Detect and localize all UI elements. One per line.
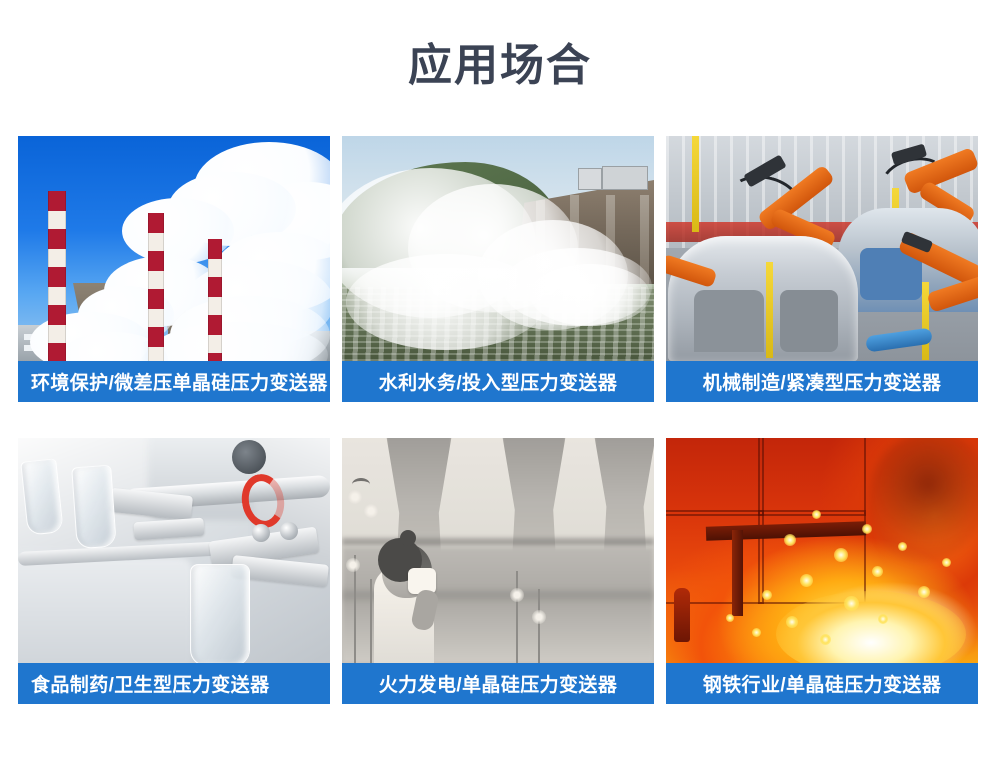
spark-shape — [862, 524, 872, 534]
scenario-card[interactable]: 食品制药/卫生型压力变送器 — [18, 438, 330, 704]
scenario-caption: 环境保护/微差压单晶硅压力变送器 — [18, 361, 330, 402]
power-plant-chimneys-photo — [18, 136, 330, 361]
flower-bloom-shape — [510, 588, 524, 602]
car-body-shape — [668, 236, 858, 361]
furnace-wall-panel-shape — [758, 438, 866, 516]
spark-shape — [834, 548, 848, 562]
spark-shape — [812, 510, 821, 519]
cooling-towers-child-photo — [342, 438, 654, 663]
steel-furnace-sparks-photo — [666, 438, 978, 663]
child-hair-tuft-shape — [400, 530, 416, 546]
yellow-pillar-shape — [692, 136, 699, 232]
striped-chimney-shape — [208, 239, 222, 361]
glass-vial-shape — [20, 458, 64, 535]
bolt-head-shape — [280, 522, 298, 540]
spark-shape — [878, 614, 888, 624]
glass-vial-shape — [71, 465, 117, 550]
spark-shape — [942, 558, 951, 567]
spark-shape — [752, 628, 761, 637]
wild-plant-stem-shape — [370, 579, 372, 663]
bolt-head-shape — [252, 524, 270, 542]
spark-shape — [872, 566, 883, 577]
spark-shape — [844, 596, 859, 611]
scenario-card[interactable]: 水利水务/投入型压力变送器 — [342, 136, 654, 402]
flower-bloom-shape — [532, 610, 546, 624]
flower-bloom-shape — [364, 504, 378, 518]
spark-shape — [898, 542, 907, 551]
scenario-caption: 火力发电/单晶硅压力变送器 — [342, 663, 654, 704]
spark-shape — [800, 574, 813, 587]
furnace-smoke-shape — [868, 438, 978, 562]
gripper-clamp-shape — [133, 518, 204, 541]
striped-chimney-shape — [48, 191, 66, 361]
hydro-dam-spillway-photo — [342, 136, 654, 361]
application-scenarios-page: 应用场合 — [0, 0, 1000, 759]
scenario-caption: 钢铁行业/单晶硅压力变送器 — [666, 663, 978, 704]
scenario-card[interactable]: 环境保护/微差压单晶硅压力变送器 — [18, 136, 330, 402]
steel-post-shape — [732, 530, 743, 616]
water-spray-shape — [530, 264, 650, 326]
spark-shape — [918, 586, 930, 598]
machine-background-shape — [18, 558, 192, 663]
flower-bloom-shape — [348, 490, 362, 504]
spark-shape — [786, 616, 798, 628]
scenario-card[interactable]: 火力发电/单晶硅压力变送器 — [342, 438, 654, 704]
scenario-caption: 机械制造/紧凑型压力变送器 — [666, 361, 978, 402]
page-title: 应用场合 — [0, 44, 1000, 88]
flower-bloom-shape — [346, 558, 360, 572]
gantry-crane-shape — [602, 166, 648, 190]
wild-plant-stem-shape — [538, 589, 540, 663]
pharmaceutical-vial-line-photo — [18, 438, 330, 663]
machine-knob-shape — [232, 440, 266, 474]
bird-silhouette-shape — [352, 478, 370, 491]
scenario-card[interactable]: 钢铁行业/单晶硅压力变送器 — [666, 438, 978, 704]
worker-silhouette-shape — [674, 588, 690, 642]
robotic-assembly-line-photo — [666, 136, 978, 361]
glass-vial-shape — [190, 564, 250, 663]
spark-shape — [820, 634, 831, 645]
spark-shape — [784, 534, 796, 546]
scenario-card-grid: 环境保护/微差压单晶硅压力变送器 — [18, 136, 982, 704]
striped-chimney-shape — [148, 213, 164, 361]
spark-shape — [762, 590, 772, 600]
wild-plant-stem-shape — [516, 571, 518, 663]
furnace-wall-panel-shape — [666, 438, 764, 516]
gantry-crane-shape — [578, 168, 602, 190]
scenario-card[interactable]: 机械制造/紧凑型压力变送器 — [666, 136, 978, 402]
spark-shape — [726, 614, 734, 622]
yellow-pillar-shape — [766, 262, 773, 358]
scenario-caption: 食品制药/卫生型压力变送器 — [18, 663, 330, 704]
scenario-caption: 水利水务/投入型压力变送器 — [342, 361, 654, 402]
